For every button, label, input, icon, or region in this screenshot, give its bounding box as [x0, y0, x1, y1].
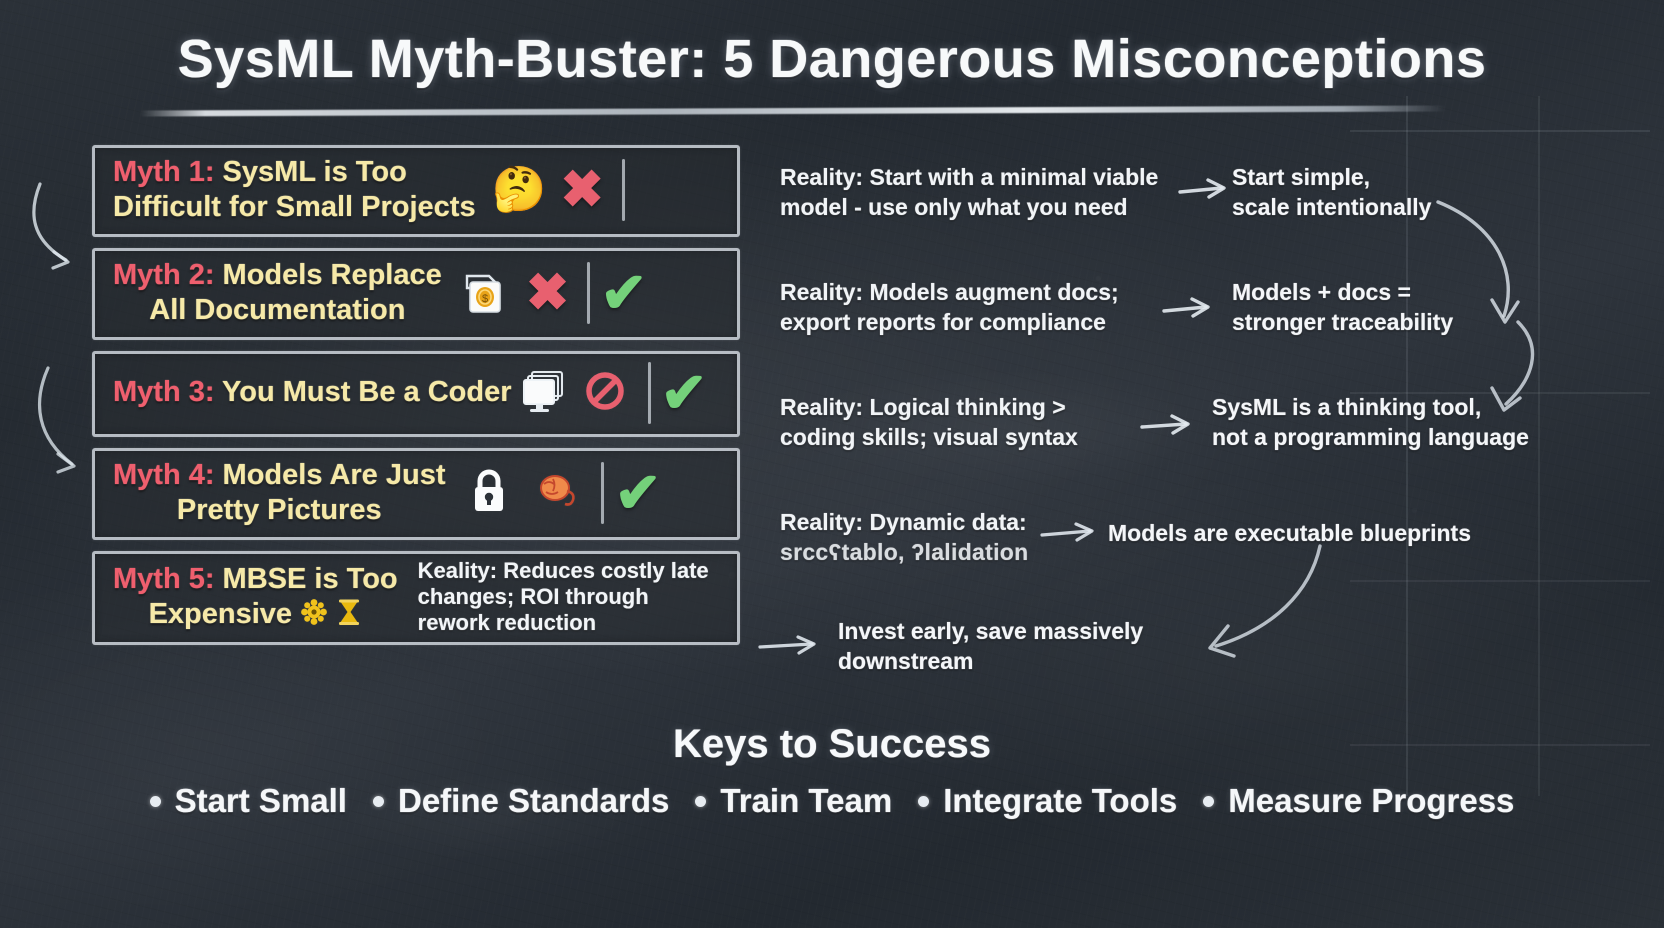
- key-item-4: Integrate Tools: [918, 782, 1177, 820]
- reality-3-line2: coding skills; visual syntax: [780, 423, 1110, 453]
- keys-to-success-heading: Keys to Success: [0, 722, 1664, 767]
- reality-text-3: Reality: Logical thinking > coding skill…: [780, 393, 1110, 453]
- myth-card-3[interactable]: Myth 3: You Must Be a Coder: [92, 351, 740, 437]
- myth-list: Myth 1: SysML is Too Difficult for Small…: [92, 145, 740, 656]
- myth-5-reality-line2: changes; ROI through: [418, 584, 727, 610]
- outcome-text-2: Models + docs = stronger traceability: [1232, 278, 1542, 338]
- myth-1-text: Myth 1: SysML is Too Difficult for Small…: [113, 155, 476, 226]
- reality-3-line1: Reality: Logical thinking >: [780, 393, 1110, 423]
- bullet-dot-icon: [695, 796, 706, 807]
- bullet-dot-icon: [1203, 796, 1214, 807]
- key-label-5: Measure Progress: [1228, 782, 1514, 820]
- myth-1-line1: SysML is Too: [215, 156, 407, 188]
- green-check-icon: ✔: [600, 265, 647, 321]
- myth-3-icons: [518, 365, 630, 421]
- myth-2-label: Myth 2:: [113, 259, 215, 291]
- myth-3-divider: [648, 362, 651, 424]
- bullet-dot-icon: [373, 796, 384, 807]
- outcome-4-line1: Models are executable blueprints: [1108, 519, 1528, 549]
- reality-1-line1: Reality: Start with a minimal viable: [780, 163, 1180, 193]
- prohibited-icon: [580, 366, 630, 420]
- myth-4-line2: Pretty Pictures: [113, 493, 445, 528]
- outcome-3-line2: not a programming language: [1212, 423, 1562, 453]
- reality-4-line1: Reality: Dynamic data:: [780, 508, 1070, 538]
- key-item-2: Define Standards: [373, 782, 669, 820]
- bullet-dot-icon: [918, 796, 929, 807]
- key-label-2: Define Standards: [398, 782, 669, 820]
- myth-2-divider: [587, 262, 590, 324]
- reality-text-2: Reality: Models augment docs; export rep…: [780, 278, 1160, 338]
- arrow-right-icon-3: [1140, 412, 1196, 438]
- myth-5-reality-line1: Keality: Reduces costly late: [418, 558, 727, 584]
- keys-to-success-list: Start Small Define Standards Train Team …: [0, 782, 1664, 820]
- myth-4-line1: Models Are Just: [215, 459, 446, 491]
- outcome-5-line1: Invest early, save massively: [838, 617, 1218, 647]
- thinking-face-icon: 🤔: [492, 168, 547, 212]
- outcome-3-line1: SysML is a thinking tool,: [1212, 393, 1562, 423]
- key-item-1: Start Small: [150, 782, 347, 820]
- key-label-3: Train Team: [720, 782, 892, 820]
- myth-5-reality-line3: rework reduction: [418, 610, 727, 636]
- arrow-right-icon-1: [1178, 178, 1234, 204]
- myth-card-2[interactable]: Myth 2: Models Replace All Documentation…: [92, 248, 740, 340]
- arrow-right-icon-5: [758, 631, 814, 657]
- myth-2-icons: $ ✖: [458, 264, 570, 322]
- myth-3-text: Myth 3: You Must Be a Coder: [113, 375, 512, 410]
- key-label-4: Integrate Tools: [943, 782, 1177, 820]
- hourglass-icon: [336, 598, 362, 632]
- grid-line-decoration: [1350, 130, 1650, 132]
- myth-1-label: Myth 1:: [113, 156, 215, 188]
- outcome-1-line1: Start simple,: [1232, 163, 1532, 193]
- myth-2-line2: All Documentation: [113, 293, 442, 328]
- myth-2-line1: Models Replace: [215, 259, 442, 291]
- outcome-text-3: SysML is a thinking tool, not a programm…: [1212, 393, 1562, 453]
- myth-3-line1: You Must Be a Coder: [215, 376, 512, 408]
- monitor-stack-icon: [518, 365, 570, 421]
- grid-line-decoration: [1350, 580, 1650, 582]
- title-underline: [140, 105, 1446, 116]
- key-item-5: Measure Progress: [1203, 782, 1514, 820]
- myth-4-divider: [601, 462, 604, 524]
- outcome-text-5: Invest early, save massively downstream: [838, 617, 1218, 677]
- myth-2-text: Myth 2: Models Replace All Documentation: [113, 258, 442, 329]
- myth-4-label: Myth 4:: [113, 459, 215, 491]
- arrow-right-icon-2: [1162, 296, 1218, 322]
- red-x-icon: ✖: [560, 164, 604, 216]
- outcome-2-line1: Models + docs =: [1232, 278, 1542, 308]
- green-check-icon: ✔: [614, 465, 661, 521]
- myth-5-label: Myth 5:: [113, 563, 215, 595]
- myth-1-icons: 🤔 ✖: [492, 164, 604, 216]
- reality-text-4: Reality: Dynamic data: srccʕtablo, ʔlali…: [780, 508, 1070, 568]
- outcome-1-line2: scale intentionally: [1232, 193, 1532, 223]
- page-title: SysML Myth-Buster: 5 Dangerous Misconcep…: [0, 28, 1664, 90]
- myth-card-1[interactable]: Myth 1: SysML is Too Difficult for Small…: [92, 145, 740, 237]
- outcome-2-line2: stronger traceability: [1232, 308, 1542, 338]
- green-check-icon: ✔: [661, 365, 708, 421]
- myth-5-inline-reality: Keality: Reduces costly late changes; RO…: [418, 558, 727, 636]
- reality-2-line1: Reality: Models augment docs;: [780, 278, 1160, 308]
- svg-text:$: $: [482, 293, 488, 305]
- myth-card-4[interactable]: Myth 4: Models Are Just Pretty Pictures: [92, 448, 740, 540]
- document-badge-icon: $: [458, 264, 512, 322]
- reality-2-line2: export reports for compliance: [780, 308, 1160, 338]
- myth-5-line1: MBSE is Too: [215, 563, 398, 595]
- myth-1-divider: [622, 159, 625, 221]
- myth-4-icons: [461, 463, 583, 523]
- key-item-3: Train Team: [695, 782, 892, 820]
- reality-1-line2: model - use only what you need: [780, 193, 1180, 223]
- reality-4-line2-garbled: srccʕtablo, ʔlalidation: [780, 538, 1070, 568]
- key-label-1: Start Small: [175, 782, 347, 820]
- outcome-5-line2: downstream: [838, 647, 1218, 677]
- myth-5-line2: Expensive: [149, 597, 292, 632]
- myth-3-label: Myth 3:: [113, 376, 215, 408]
- bullet-dot-icon: [150, 796, 161, 807]
- myth-1-line2: Difficult for Small Projects: [113, 190, 476, 225]
- myth-5-line2-row: Expensive: [113, 597, 398, 632]
- reality-text-1: Reality: Start with a minimal viable mod…: [780, 163, 1180, 223]
- gear-flower-icon: [300, 598, 328, 632]
- myth-4-text: Myth 4: Models Are Just Pretty Pictures: [113, 458, 445, 529]
- myth-5-text: Myth 5: MBSE is Too Expensive: [113, 562, 398, 633]
- outcome-text-1: Start simple, scale intentionally: [1232, 163, 1532, 223]
- outcome-text-4: Models are executable blueprints: [1108, 519, 1528, 549]
- chalkboard-canvas: SysML Myth-Buster: 5 Dangerous Misconcep…: [0, 0, 1664, 928]
- padlock-icon: [461, 463, 517, 523]
- myth-card-5[interactable]: Myth 5: MBSE is Too Expensive: [92, 551, 740, 645]
- brain-icon: [531, 465, 583, 521]
- red-x-icon: ✖: [526, 267, 570, 319]
